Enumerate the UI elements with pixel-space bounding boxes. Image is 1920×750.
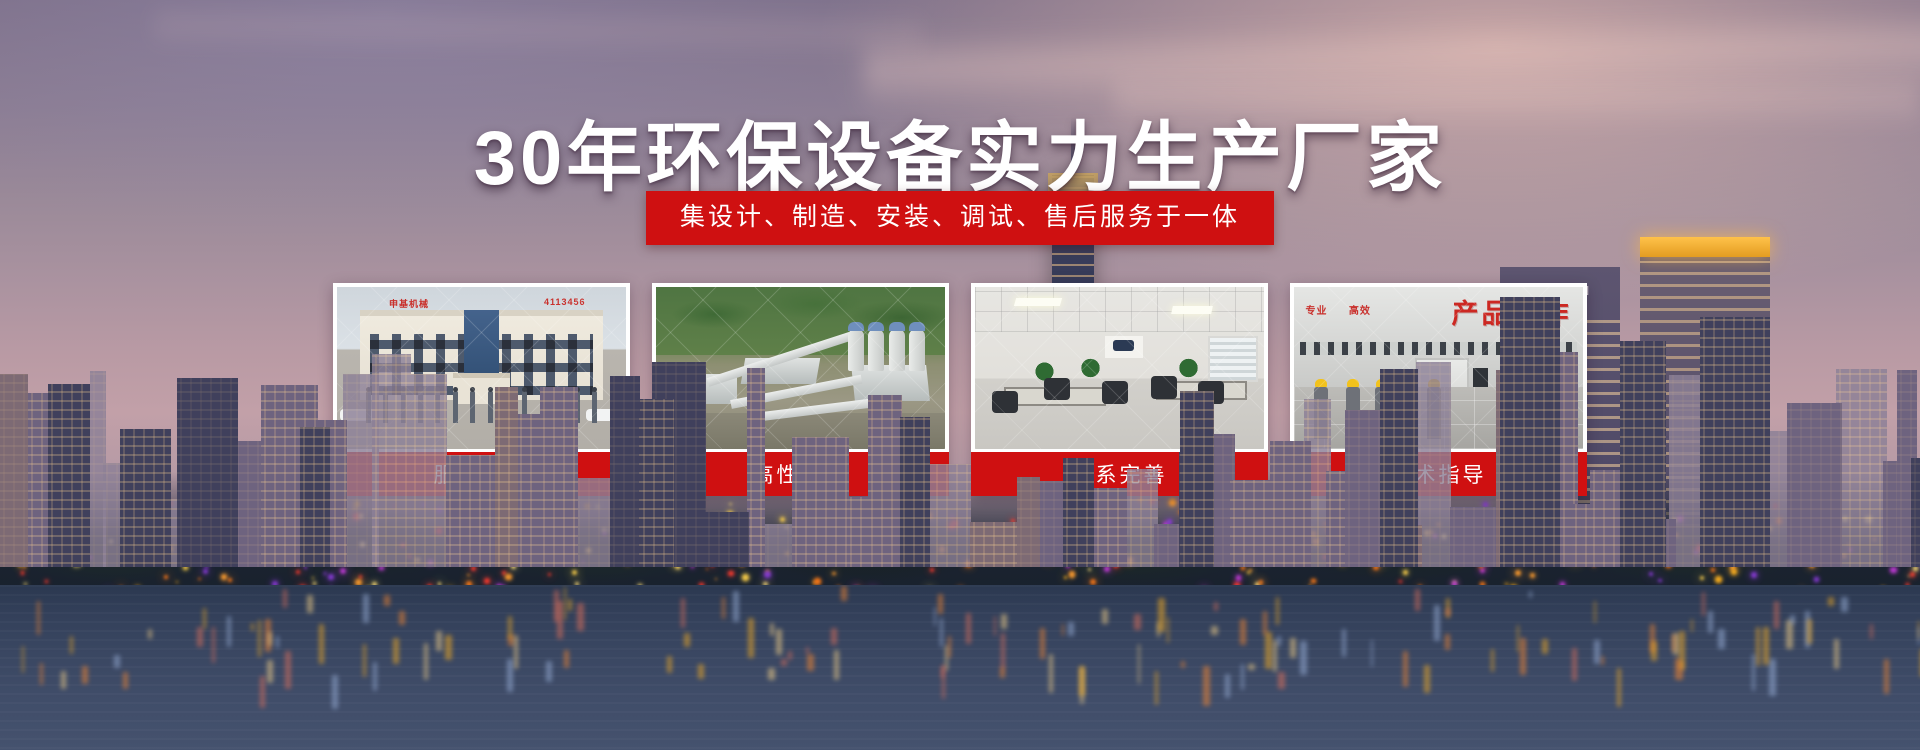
skyline-tower xyxy=(1380,369,1418,567)
skyline-tower xyxy=(1700,317,1770,567)
water-reflection-streak xyxy=(831,628,837,645)
company-logo-text: 申基机械 xyxy=(389,297,429,310)
river-water xyxy=(0,585,1920,750)
water-reflection-streak xyxy=(768,668,775,680)
water-reflection-streak xyxy=(70,636,72,654)
water-reflection-streak xyxy=(319,624,324,664)
tree-light xyxy=(572,570,577,575)
water-reflection-streak xyxy=(332,675,338,709)
skyline-tower xyxy=(1620,341,1666,567)
skyline-building xyxy=(1230,480,1270,567)
skyline-building xyxy=(495,387,518,567)
water-reflection-streak xyxy=(966,613,971,645)
tree-light xyxy=(228,578,231,581)
tree-light xyxy=(505,574,512,581)
water-reflection-streak xyxy=(1240,619,1246,644)
water-reflection-streak xyxy=(781,659,786,666)
water-reflection-streak xyxy=(1403,651,1408,687)
water-reflection-streak xyxy=(748,618,754,658)
tree-light xyxy=(1711,568,1714,571)
tree-light xyxy=(1700,576,1704,580)
skyline-building xyxy=(103,463,121,567)
subtitle-wrapper: 集设计、制造、安装、调试、售后服务于一体 xyxy=(0,191,1920,245)
skyline-building xyxy=(1154,524,1180,567)
tree-light xyxy=(1311,579,1315,583)
tree-light xyxy=(198,578,200,580)
water-reflection-streak xyxy=(1203,666,1210,706)
water-reflection-streak xyxy=(197,627,203,647)
water-reflection-streak xyxy=(1079,666,1084,696)
ceiling-light xyxy=(1014,298,1063,306)
tree-light xyxy=(715,578,717,580)
tree-light xyxy=(1403,570,1408,575)
water-reflection-streak xyxy=(1756,627,1760,666)
tree-light xyxy=(780,517,786,523)
water-reflection-streak xyxy=(564,650,569,669)
water-reflection-streak xyxy=(546,661,552,682)
water-reflection-streak xyxy=(1834,639,1839,669)
water-reflection-streak xyxy=(698,664,704,679)
water-reflection-streak xyxy=(776,629,782,654)
skyline-tower xyxy=(300,427,330,567)
skyline-tower xyxy=(1180,391,1214,567)
skyline-tower xyxy=(900,417,930,567)
water-reflection-streak xyxy=(841,586,847,601)
tree-light xyxy=(1399,580,1402,583)
tree-light xyxy=(706,568,709,571)
wall-emblem xyxy=(1105,336,1143,359)
water-reflection-streak xyxy=(1265,632,1272,669)
water-reflection-streak xyxy=(1273,640,1278,672)
water-reflection-streak xyxy=(1790,615,1795,624)
water-reflection-streak xyxy=(807,654,814,671)
water-reflection-streak xyxy=(445,635,451,660)
water-reflection-streak xyxy=(40,663,43,685)
water-reflection-streak xyxy=(1491,649,1493,672)
water-reflection-streak xyxy=(1424,665,1431,694)
water-reflection-streak xyxy=(285,651,290,689)
water-reflection-streak xyxy=(770,623,774,636)
water-reflection-streak xyxy=(363,594,369,623)
skyline-building xyxy=(517,414,541,567)
water-reflection-streak xyxy=(260,676,265,708)
tree-light xyxy=(45,580,48,583)
skyline-tower xyxy=(640,399,674,567)
skyline-building xyxy=(1836,369,1887,567)
water-reflection-streak xyxy=(436,631,441,651)
card-thumbnail xyxy=(975,287,1264,449)
water-reflection-streak xyxy=(1278,672,1284,689)
water-reflection-streak xyxy=(1290,638,1296,657)
water-reflection-streak xyxy=(667,656,672,673)
skyline-building xyxy=(1094,488,1127,567)
office-chair xyxy=(1102,381,1128,404)
tree-light xyxy=(764,571,771,578)
skyline-building xyxy=(923,464,971,567)
skyline-building xyxy=(234,441,264,567)
office-chair xyxy=(1044,378,1070,401)
water-reflection-streak xyxy=(307,595,313,613)
skyline-building xyxy=(411,374,447,567)
water-reflection-streak xyxy=(681,598,684,628)
tree-light xyxy=(1236,575,1241,580)
water-reflection-streak xyxy=(283,589,288,608)
water-reflection-streak xyxy=(722,597,725,619)
water-reflection-streak xyxy=(1225,674,1230,698)
skyline-building xyxy=(610,376,640,567)
tree-light xyxy=(1169,499,1176,506)
water-reflection-streak xyxy=(1158,598,1165,632)
water-reflection-streak xyxy=(1594,601,1596,623)
water-reflection-streak xyxy=(1263,611,1268,635)
tree-light xyxy=(1069,571,1075,577)
water-reflection-streak xyxy=(1248,664,1255,670)
tree-light xyxy=(312,577,314,579)
water-reflection-streak xyxy=(1241,664,1244,689)
skyline-building xyxy=(540,387,578,567)
water-reflection-streak xyxy=(363,644,366,676)
water-reflection-streak xyxy=(1651,641,1657,661)
skyline-building xyxy=(1270,441,1311,567)
tree-light xyxy=(467,574,470,577)
water-reflection-streak xyxy=(1211,626,1217,635)
water-reflection-streak xyxy=(514,635,517,669)
skyline-building xyxy=(970,522,1020,567)
water-reflection-streak xyxy=(1517,625,1519,652)
water-reflection-streak xyxy=(212,627,215,663)
tree-light xyxy=(832,572,835,575)
tree-light xyxy=(176,581,179,584)
water-reflection-streak xyxy=(507,659,514,692)
water-reflection-streak xyxy=(1617,668,1620,707)
water-reflection-streak xyxy=(1594,640,1600,665)
water-reflection-streak xyxy=(384,595,389,606)
water-reflection-streak xyxy=(1001,633,1005,669)
water-reflection-streak xyxy=(1542,639,1548,654)
potted-plant xyxy=(1177,358,1200,377)
water-reflection-streak xyxy=(788,651,792,659)
water-reflection-streak xyxy=(1062,624,1065,635)
skyline-building xyxy=(1063,458,1094,567)
factory-slogan-mid: 高效 xyxy=(1349,302,1371,317)
tree-light xyxy=(742,574,749,581)
water-reflection-streak xyxy=(227,616,231,647)
water-reflection-streak xyxy=(1277,636,1281,646)
skyline-building xyxy=(446,455,499,567)
subtitle-badge: 集设计、制造、安装、调试、售后服务于一体 xyxy=(646,191,1274,245)
water-reflection-streak xyxy=(1049,654,1053,693)
tree-light xyxy=(203,569,208,574)
office-window xyxy=(1208,336,1258,382)
water-reflection-streak xyxy=(940,618,943,647)
water-reflection-streak xyxy=(1434,605,1440,642)
water-reflection-streak xyxy=(276,636,279,648)
water-reflection-streak xyxy=(564,587,566,620)
water-reflection-streak xyxy=(1445,634,1450,650)
water-reflection-streak xyxy=(1134,614,1141,630)
water-reflection-streak xyxy=(148,629,152,639)
water-reflections xyxy=(0,585,1920,750)
tree-light xyxy=(729,503,732,506)
skyline-building xyxy=(0,374,28,567)
office-chair xyxy=(1151,376,1177,399)
water-reflection-streak xyxy=(258,620,261,657)
tree-light xyxy=(1890,567,1896,573)
page-title: 30年环保设备实力生产厂家 xyxy=(0,96,1920,206)
water-reflection-streak xyxy=(61,671,66,688)
water-reflection-streak xyxy=(554,590,559,623)
tree-light xyxy=(1249,569,1252,572)
water-reflection-streak xyxy=(1708,611,1713,633)
water-reflection-streak xyxy=(1000,667,1004,677)
water-reflection-streak xyxy=(123,672,128,689)
water-reflection-streak xyxy=(834,650,839,680)
water-reflection-streak xyxy=(1841,597,1848,612)
water-reflection-streak xyxy=(1828,597,1834,606)
water-reflection-streak xyxy=(1102,609,1109,624)
tree-light xyxy=(1480,568,1485,573)
skyline-building xyxy=(1450,507,1499,567)
skyline-building xyxy=(1787,403,1842,567)
company-phone-text: 4113456 xyxy=(544,297,586,307)
water-reflection-streak xyxy=(733,591,739,622)
water-reflection-streak xyxy=(508,616,512,640)
water-reflection-streak xyxy=(267,660,273,683)
skyline-building xyxy=(372,354,411,567)
water-reflection-streak xyxy=(1001,614,1007,629)
water-reflection-streak xyxy=(1672,634,1675,653)
water-reflection-streak xyxy=(1446,608,1450,616)
water-reflection-streak xyxy=(22,646,24,673)
water-reflection-streak xyxy=(393,638,398,665)
tree-light xyxy=(728,571,733,576)
tree-light xyxy=(296,570,300,574)
water-reflection-streak xyxy=(938,594,944,614)
tree-light xyxy=(1658,579,1661,582)
tree-light xyxy=(484,578,490,584)
tree-light xyxy=(164,575,168,579)
water-reflection-streak xyxy=(1752,654,1755,691)
water-reflection-streak xyxy=(934,607,936,626)
water-reflection-streak xyxy=(942,665,945,699)
skyline-tower xyxy=(1500,297,1560,567)
water-reflection-streak xyxy=(684,633,691,647)
water-reflection-streak xyxy=(577,603,583,631)
factory-slogan-left: 专业 xyxy=(1306,302,1328,317)
water-reflection-streak xyxy=(1415,589,1421,611)
water-reflection-streak xyxy=(568,599,572,611)
hero-banner: WESTIN 30年环保设备实力生产厂家 集设计、制造、安装、调试、售后服务于一… xyxy=(0,0,1920,750)
tree-light xyxy=(1913,566,1918,571)
water-reflection-streak xyxy=(1181,661,1185,669)
skyline-building xyxy=(48,384,90,567)
skyline-building xyxy=(177,378,238,567)
water-reflection-streak xyxy=(1167,617,1169,643)
water-reflection-streak xyxy=(1040,628,1045,659)
water-reflection-streak xyxy=(1870,624,1873,638)
tree-light xyxy=(1530,573,1536,579)
tree-light xyxy=(1649,572,1653,576)
office-ceiling xyxy=(975,287,1264,332)
skyline-building xyxy=(575,478,615,567)
skyline-building xyxy=(764,524,792,567)
ceiling-light xyxy=(1171,306,1213,314)
office-chair xyxy=(992,391,1018,414)
water-reflection-streak xyxy=(1786,620,1792,649)
water-reflection-streak xyxy=(373,662,377,691)
tree-light xyxy=(1908,575,1910,577)
water-reflection-streak xyxy=(1675,658,1680,680)
water-reflection-streak xyxy=(1068,622,1075,637)
water-reflection-streak xyxy=(399,611,406,625)
water-reflection-streak xyxy=(251,623,254,631)
water-reflection-streak xyxy=(1300,641,1307,675)
tree-light xyxy=(1088,568,1091,571)
tree-light xyxy=(1910,572,1915,577)
water-reflection-streak xyxy=(948,636,950,658)
tree-light xyxy=(548,573,550,575)
water-reflection-streak xyxy=(1718,629,1725,650)
water-reflection-streak xyxy=(1572,648,1577,681)
skyline-building xyxy=(792,437,849,567)
water-reflection-streak xyxy=(268,632,271,646)
water-reflection-streak xyxy=(1774,601,1779,629)
water-reflection-streak xyxy=(1691,619,1694,632)
water-reflection-streak xyxy=(1529,591,1532,598)
tree-light xyxy=(21,571,25,575)
tree-light xyxy=(1515,570,1520,575)
water-reflection-streak xyxy=(806,647,808,654)
water-reflection-streak xyxy=(1763,627,1769,665)
skyline-building xyxy=(1017,477,1040,567)
water-reflection-streak xyxy=(1371,640,1373,667)
tree-light xyxy=(1731,569,1737,575)
skyline-building xyxy=(868,395,902,567)
storage-silo xyxy=(889,329,905,371)
water-reflection-streak xyxy=(1155,671,1158,705)
storage-silo xyxy=(848,329,864,371)
tree-light xyxy=(221,574,227,580)
tree-light xyxy=(1751,572,1756,577)
tree-light xyxy=(930,568,934,572)
water-reflection-streak xyxy=(37,601,40,635)
water-reflection-streak xyxy=(82,666,88,685)
tree-light xyxy=(1064,576,1066,578)
water-reflection-streak xyxy=(114,655,120,668)
storage-silo xyxy=(909,329,925,371)
skyline-building xyxy=(747,368,765,567)
water-reflection-streak xyxy=(1807,619,1812,644)
water-reflection-streak xyxy=(1769,659,1776,696)
tree-light xyxy=(340,568,346,574)
storage-silo xyxy=(868,329,884,371)
water-reflection-streak xyxy=(1138,644,1140,683)
water-reflection-streak xyxy=(1342,629,1345,657)
tree-light xyxy=(1715,576,1722,583)
water-reflection-streak xyxy=(994,616,996,636)
water-reflection-streak xyxy=(1520,638,1526,675)
cloud-band xyxy=(153,3,922,58)
water-reflection-streak xyxy=(424,643,428,680)
tree-light xyxy=(328,574,333,579)
water-reflection-streak xyxy=(1702,592,1705,616)
tree-light xyxy=(324,572,327,575)
water-reflection-streak xyxy=(1276,597,1279,625)
skyline-building xyxy=(1911,458,1920,567)
water-reflection-streak xyxy=(1214,602,1218,611)
skyline-building xyxy=(120,429,171,567)
potted-plant xyxy=(1079,358,1102,377)
water-reflection-streak xyxy=(1601,656,1604,665)
water-reflection-streak xyxy=(203,608,207,629)
water-reflection-streak xyxy=(1884,659,1889,694)
tree-light xyxy=(1814,577,1819,582)
skyline-building xyxy=(705,512,749,567)
